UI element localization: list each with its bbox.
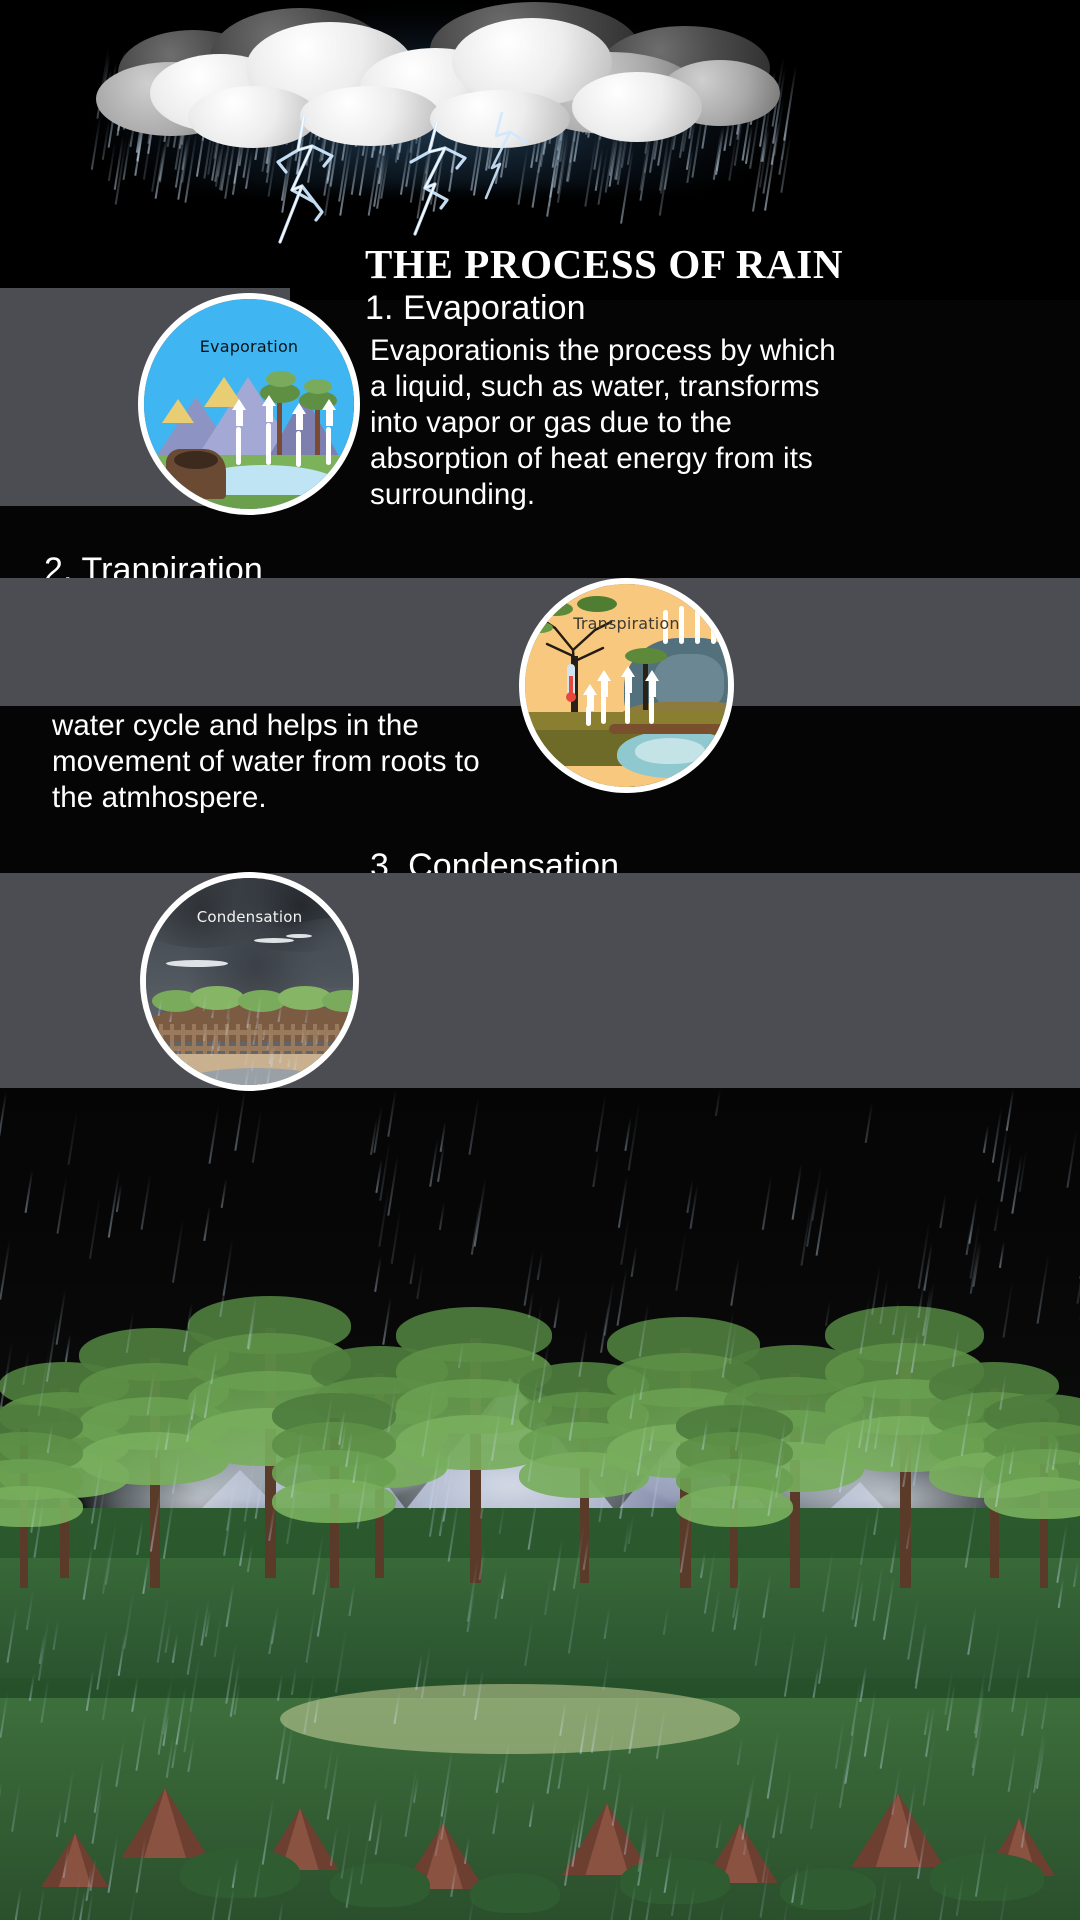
vapor-wiggle-icon: [601, 696, 606, 724]
clearing-path: [280, 1684, 740, 1754]
pond-bank-icon: [609, 724, 734, 734]
transpiration-arrow-icon: [645, 670, 660, 698]
rock-icon: [850, 1793, 946, 1867]
evaporation-arrow-icon: [232, 399, 247, 429]
condensation-circle-image: Condensation: [140, 872, 359, 1091]
transpiration-circle-image: Transpiration: [519, 578, 734, 793]
vapor-wiggle-icon: [266, 423, 271, 465]
bush-icon: [470, 1873, 560, 1913]
infographic-poster: THE PROCESS OF RAIN 1. Evaporation Evapo…: [0, 0, 1080, 1920]
evaporation-circle-label: Evaporation: [144, 337, 354, 356]
forest-tree-canopy: [984, 1477, 1080, 1519]
page-title: THE PROCESS OF RAIN: [365, 243, 1025, 286]
condensation-circle-label: Condensation: [146, 908, 353, 926]
forest-tree-canopy: [272, 1479, 396, 1523]
transpiration-arrow-icon: [597, 670, 612, 698]
vapor-wiggle-icon: [236, 427, 241, 465]
vapor-wiggle-icon: [586, 706, 591, 726]
vapor-wiggle-icon: [649, 696, 654, 724]
lightning-bolt-left: [258, 116, 368, 246]
stump-top-icon: [174, 451, 218, 469]
bush-icon: [780, 1868, 876, 1910]
tree-trunk-icon: [315, 407, 320, 457]
rainy-forest-illustration: [0, 1088, 1080, 1920]
transpiration-arrow-icon: [621, 666, 636, 694]
forest-floor-mid: [0, 1558, 1080, 1678]
vapor-wiggle-icon: [625, 692, 630, 724]
cloud-light-5: [572, 72, 702, 142]
bush-icon: [180, 1848, 300, 1898]
bush-icon: [930, 1853, 1044, 1901]
tree-foliage-icon: [304, 379, 332, 394]
forest-tree-canopy: [676, 1486, 793, 1527]
stratus-wisp-icon: [286, 934, 312, 938]
evaporation-scene: [144, 299, 354, 509]
acacia-canopy-icon: [577, 596, 617, 612]
thermometer-mercury-icon: [569, 676, 573, 696]
evaporation-arrow-icon: [262, 395, 277, 425]
vapor-wiggle-icon: [326, 427, 331, 465]
transpiration-circle-label: Transpiration: [525, 614, 728, 633]
rock-icon: [40, 1833, 110, 1887]
tree-trunk-icon: [277, 401, 282, 457]
evaporation-circle-image: Evaporation: [138, 293, 360, 515]
bush-icon: [620, 1858, 730, 1904]
transpiration-arrow-icon: [583, 684, 596, 708]
section-body-evaporation: Evaporationis the process by which a liq…: [370, 333, 840, 513]
vapor-wiggle-icon: [296, 431, 301, 467]
small-tree-canopy-icon: [625, 648, 667, 664]
treeline-canopy-icon: [190, 986, 244, 1010]
stratus-wisp-icon: [166, 960, 228, 967]
mountain-peak-gold2-icon: [162, 399, 194, 423]
bush-icon: [330, 1863, 430, 1907]
evaporation-arrow-icon: [292, 403, 307, 433]
section-heading-evaporation: 1. Evaporation: [365, 288, 586, 328]
rock-icon: [120, 1788, 210, 1858]
pond-highlight: [635, 738, 705, 764]
tree-foliage-icon: [266, 371, 296, 387]
lightning-bolt-right: [468, 112, 548, 202]
stratus-wisp-icon: [254, 938, 294, 943]
evaporation-arrow-icon: [322, 399, 337, 429]
